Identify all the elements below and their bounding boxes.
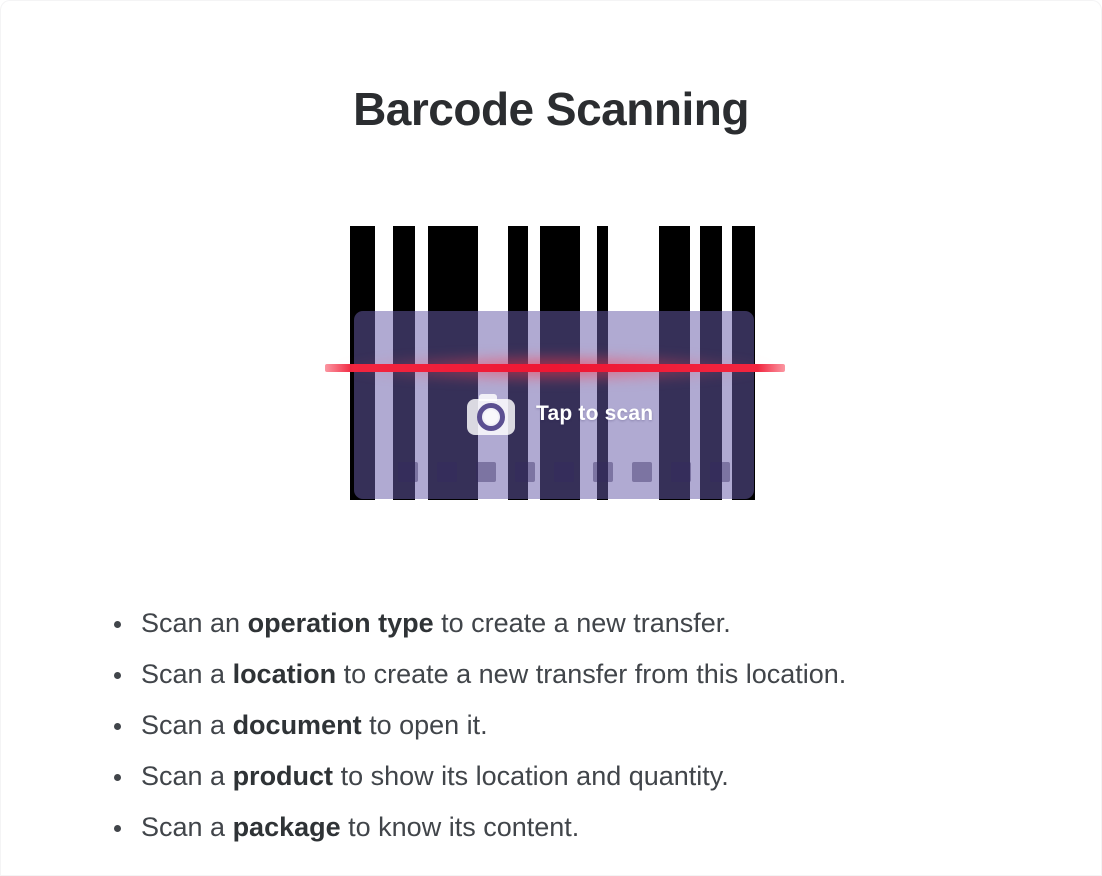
tip-keyword: location: [233, 659, 337, 689]
barcode-dash-row: [354, 462, 754, 482]
tip-keyword: product: [233, 761, 334, 791]
barcode-dash: [710, 462, 730, 482]
barcode-dash: [554, 462, 574, 482]
tip-prefix: Scan a: [141, 812, 233, 842]
tip-suffix: to show its location and quantity.: [333, 761, 729, 791]
tip-keyword: operation type: [248, 608, 434, 638]
tap-to-scan-button[interactable]: Tap to scan: [465, 390, 653, 438]
barcode-dash: [437, 462, 457, 482]
barcode-scanner-illustration[interactable]: Tap to scan: [310, 210, 800, 510]
tip-prefix: Scan a: [141, 761, 233, 791]
tip-suffix: to create a new transfer from this locat…: [336, 659, 846, 689]
barcode-dash: [476, 462, 496, 482]
tip-prefix: Scan an: [141, 608, 248, 638]
tip-suffix: to open it.: [362, 710, 488, 740]
page-card: Barcode Scanning Tap to scan Scan an ope…: [0, 0, 1102, 876]
tip-prefix: Scan a: [141, 659, 233, 689]
barcode-dash: [632, 462, 652, 482]
tap-to-scan-label: Tap to scan: [536, 402, 653, 426]
barcode-dash: [398, 462, 418, 482]
barcode-dash: [671, 462, 691, 482]
tip-suffix: to know its content.: [341, 812, 580, 842]
scan-tip-item: Scan a product to show its location and …: [106, 751, 1066, 802]
tip-keyword: package: [233, 812, 341, 842]
scan-tip-item: Scan a document to open it.: [106, 700, 1066, 751]
tip-prefix: Scan a: [141, 710, 233, 740]
barcode-dash: [515, 462, 535, 482]
camera-icon: [465, 390, 517, 438]
barcode-dash: [593, 462, 613, 482]
scan-tips-list: Scan an operation type to create a new t…: [106, 598, 1066, 853]
page-title: Barcode Scanning: [0, 84, 1102, 135]
scan-tip-item: Scan a location to create a new transfer…: [106, 649, 1066, 700]
tip-keyword: document: [233, 710, 362, 740]
scan-tip-item: Scan a package to know its content.: [106, 802, 1066, 853]
tip-suffix: to create a new transfer.: [434, 608, 731, 638]
scan-tip-item: Scan an operation type to create a new t…: [106, 598, 1066, 649]
